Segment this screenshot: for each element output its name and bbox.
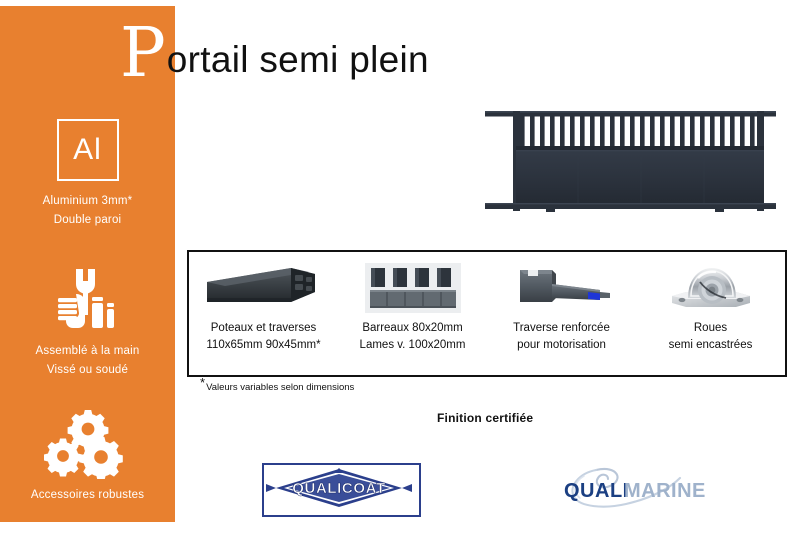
sidebar-feature-assembly-line1: Assemblé à la main (0, 342, 175, 361)
gate-semi-solid-illustration (483, 103, 778, 223)
qualicoat-logo: QUALICOAT (262, 463, 421, 517)
product-cell-crossbar-line1: Traverse renforcée (513, 320, 610, 336)
al-badge: Al (57, 119, 119, 181)
qualimarine-wordmark-bold: QUALI (564, 480, 629, 502)
sidebar-feature-accessories: Accessoires robustes (0, 408, 175, 505)
sidebar-feature-assembly: Assemblé à la main Vissé ou soudé (0, 264, 175, 380)
product-cell-posts: Poteaux et traverses 110x65mm 90x45mm* (189, 252, 338, 375)
product-cell-bars-line1: Barreaux 80x20mm (362, 320, 462, 336)
aluminium-al-square-icon: Al (0, 114, 175, 186)
brochure-page: Al Aluminium 3mm* Double paroi (0, 0, 800, 534)
product-cell-wheels-line1: Roues (694, 320, 727, 336)
reinforced-crossbar-photo (510, 260, 614, 316)
hand-wrench-icon (0, 264, 175, 336)
product-cell-wheels-line2: semi encastrées (669, 336, 753, 354)
sidebar-feature-accessories-line1: Accessoires robustes (0, 486, 175, 505)
page-title-text: ortail semi plein (167, 41, 429, 78)
product-features-panel: Poteaux et traverses 110x65mm 90x45mm* (187, 250, 787, 377)
gears-icon (0, 408, 175, 480)
post-and-crossbar-profile-photo (203, 260, 325, 316)
product-cell-bars-line2: Lames v. 100x20mm (360, 336, 466, 354)
footnote: * Valeurs variables selon dimensions (200, 378, 354, 394)
qualimarine-wordmark-light: MARINE (624, 480, 706, 502)
sidebar-feature-aluminium-line1: Aluminium 3mm* (0, 192, 175, 211)
product-cell-posts-line2: 110x65mm 90x45mm* (206, 336, 320, 354)
product-cell-crossbar: Traverse renforcée pour motorisation (487, 252, 636, 375)
page-title-capital: P (120, 20, 166, 88)
product-cell-crossbar-line2: pour motorisation (517, 336, 606, 354)
sidebar-feature-aluminium: Al Aluminium 3mm* Double paroi (0, 114, 175, 230)
product-cell-wheels: Roues semi encastrées (636, 252, 785, 375)
sidebar-feature-assembly-line2: Vissé ou soudé (0, 361, 175, 380)
footnote-text: Valeurs variables selon dimensions (206, 378, 354, 394)
product-cell-posts-line1: Poteaux et traverses (211, 320, 316, 336)
footnote-asterisk: * (200, 378, 205, 388)
qualimarine-logo: QUALI MARINE (560, 466, 710, 510)
page-title: P ortail semi plein (120, 16, 429, 86)
sidebar-feature-aluminium-line2: Double paroi (0, 211, 175, 230)
certification-heading: Finition certifiée (437, 411, 533, 425)
qualicoat-wordmark: QUALICOAT (292, 480, 385, 497)
bars-and-slats-photo (365, 260, 461, 316)
semi-recessed-wheel-photo (662, 260, 760, 316)
product-cell-bars: Barreaux 80x20mm Lames v. 100x20mm (338, 252, 487, 375)
